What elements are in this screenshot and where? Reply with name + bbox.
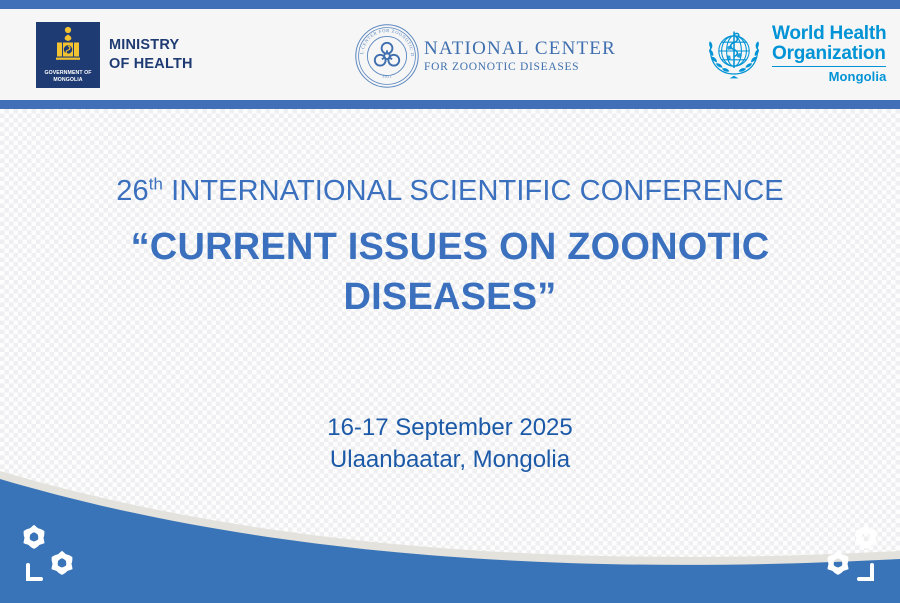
- ministry-title-line-2: OF HEALTH: [109, 55, 193, 74]
- bottom-wave-decoration: [0, 443, 900, 603]
- ncz-title-line-2: FOR ZOONOTIC DISEASES: [424, 61, 616, 73]
- conference-ordinal-line: 26th INTERNATIONAL SCIENTIFIC CONFERENCE: [0, 175, 900, 208]
- ulzii-knot-ornament-right: [808, 519, 886, 591]
- header-separator-bar: [0, 100, 900, 109]
- who-wordmark: World Health Organization Mongolia: [772, 24, 886, 85]
- conference-title-slide: GOVERNMENT OF MONGOLIA MINISTRY OF HEALT…: [0, 0, 900, 603]
- ministry-title-line-1: MINISTRY: [109, 36, 193, 55]
- ncz-title-line-1: NATIONAL CENTER: [424, 39, 616, 59]
- emblem-caption-line-1: GOVERNMENT OF: [44, 70, 91, 76]
- ministry-of-health-title: MINISTRY OF HEALTH: [109, 36, 193, 74]
- conference-line-text: INTERNATIONAL SCIENTIFIC CONFERENCE: [163, 175, 784, 207]
- logo-ministry-of-health: GOVERNMENT OF MONGOLIA MINISTRY OF HEALT…: [36, 22, 193, 88]
- ulzii-knot-ornament-left: [14, 519, 92, 591]
- emblem-caption-line-2: MONGOLIA: [53, 77, 82, 83]
- event-date: 16-17 September 2025: [0, 412, 900, 444]
- who-divider-rule: [772, 66, 886, 68]
- who-country-label: Mongolia: [772, 69, 886, 84]
- conference-theme: “CURRENT ISSUES ON ZOONOTIC DISEASES”: [0, 222, 900, 322]
- top-accent-bar: [0, 0, 900, 9]
- headline-block: 26th INTERNATIONAL SCIENTIFIC CONFERENCE…: [0, 175, 900, 322]
- who-title-line-1: World Health: [772, 24, 886, 44]
- national-center-title: NATIONAL CENTER FOR ZOONOTIC DISEASES: [424, 39, 616, 73]
- conference-theme-line-1: “CURRENT ISSUES ON ZOONOTIC: [0, 222, 900, 272]
- mongolia-state-emblem-icon: GOVERNMENT OF MONGOLIA: [36, 22, 100, 88]
- who-globe-laurel-icon: [703, 22, 765, 86]
- svg-text:1931: 1931: [382, 74, 393, 80]
- logo-national-center-zoonotic-diseases: NATIONAL CENTER FOR ZOONOTIC DISEASES 19…: [354, 23, 616, 89]
- conference-theme-line-2: DISEASES”: [0, 272, 900, 322]
- who-title-line-2: Organization: [772, 44, 886, 64]
- logo-world-health-organization: World Health Organization Mongolia: [703, 22, 886, 86]
- conference-ordinal-suffix: th: [149, 174, 163, 193]
- emblem-caption: GOVERNMENT OF MONGOLIA: [36, 70, 100, 83]
- conference-ordinal-number: 26: [116, 175, 148, 207]
- biohazard-seal-icon: NATIONAL CENTER FOR ZOONOTIC DISEASES 19…: [354, 23, 420, 89]
